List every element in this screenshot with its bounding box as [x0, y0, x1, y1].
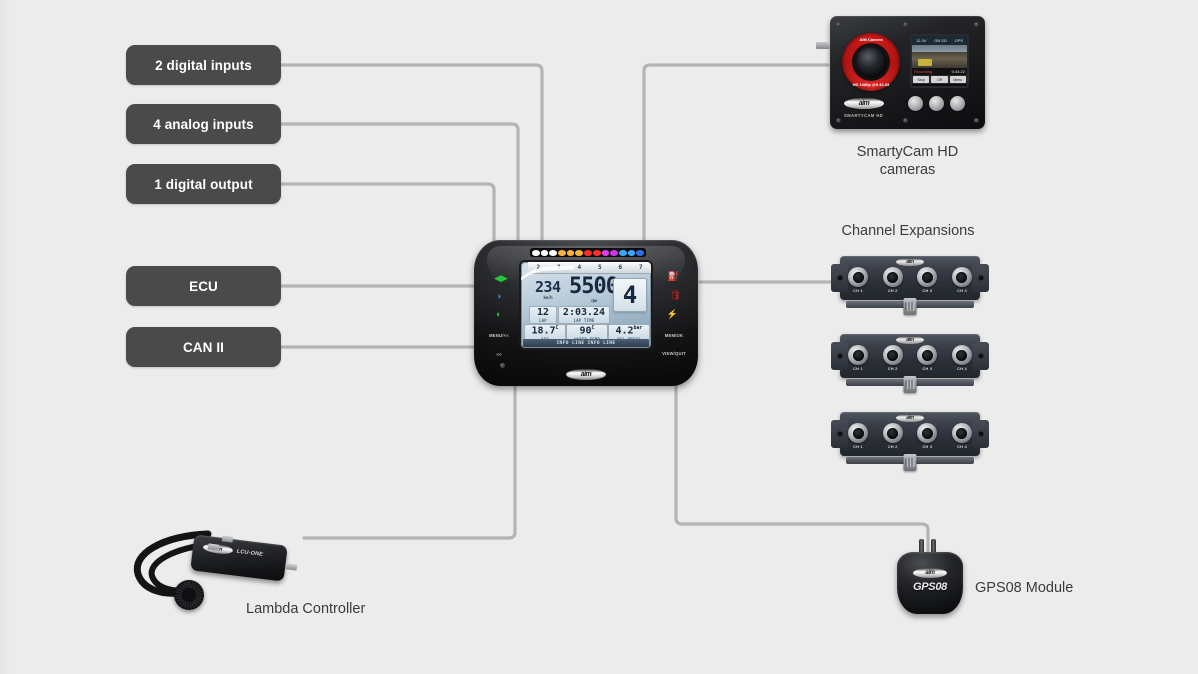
connector-icon [883, 345, 903, 365]
screw-icon [836, 22, 841, 27]
camera-cable-stub [816, 42, 830, 49]
lens-glass [855, 46, 887, 78]
laptime-label: LAP TIME [574, 318, 595, 323]
aim-logo: aim [896, 414, 924, 422]
laptime-value: 2:03.24 [563, 308, 605, 318]
channel-row: CH 1 CH 2 CH 3 CH 4 [846, 267, 974, 293]
lcd-time: 0:34:22 [952, 69, 965, 74]
shift-led [541, 250, 549, 256]
connector-icon [917, 267, 937, 287]
oil-press-value: 4.2 [615, 326, 633, 337]
input-box-analog-inputs[interactable]: 4 analog inputs [126, 104, 281, 144]
shift-led [593, 250, 601, 256]
connector-icon [952, 267, 972, 287]
lcd-status-bar: 12.3V GB SD GPS [912, 36, 967, 45]
channel-3[interactable]: CH 3 [915, 267, 939, 293]
connector-icon [883, 423, 903, 443]
speed-value: 234 [535, 278, 561, 296]
lap-label: LAP [539, 318, 547, 323]
water-temp-unit: C [592, 325, 595, 331]
channel-label: CH 1 [846, 288, 870, 293]
input-box-label: 2 digital inputs [155, 58, 252, 73]
lcd-storage: GB SD [934, 38, 946, 43]
power-indicator [500, 363, 505, 368]
channel-label: CH 2 [881, 444, 905, 449]
connector-icon [952, 345, 972, 365]
shift-led [610, 250, 618, 256]
gps-model-label: GPS08 [913, 581, 947, 593]
channel-4[interactable]: CH 4 [950, 345, 974, 371]
gps-caption: GPS08 Module [975, 579, 1115, 597]
channel-label: CH 2 [881, 288, 905, 293]
connector-icon [952, 423, 972, 443]
channel-1[interactable]: CH 1 [846, 423, 870, 449]
lcd-recording-label: Recording [914, 69, 932, 74]
lap-counter: 12 LAP [529, 306, 557, 324]
wire-digital-output [281, 184, 494, 262]
shift-led [628, 250, 636, 256]
speed-readout: 234 km/h [535, 278, 561, 301]
wire-smartycam [644, 65, 828, 246]
connector-icon [917, 345, 937, 365]
channel-4[interactable]: CH 4 [950, 267, 974, 293]
screw-icon [974, 118, 979, 123]
shift-led [584, 250, 592, 256]
lcd-preview-image [912, 45, 967, 68]
input-box-ecu[interactable]: ECU [126, 266, 281, 306]
lap-value: 12 [537, 308, 549, 318]
channel-1[interactable]: CH 1 [846, 345, 870, 371]
input-box-can2[interactable]: CAN II [126, 327, 281, 367]
menu-secondary-label[interactable]: << [486, 352, 512, 357]
channel-label: CH 3 [915, 366, 939, 371]
wire-lambda [304, 384, 515, 538]
aim-logo: aim [896, 258, 924, 266]
aim-logo: aim [896, 336, 924, 344]
smartycam-caption: SmartyCam HD cameras [830, 143, 985, 179]
channel-label: CH 1 [846, 366, 870, 371]
lcd-softkey-stop[interactable]: Stop [913, 76, 929, 83]
channel-row: CH 1 CH 2 CH 3 CH 4 [846, 423, 974, 449]
battery-warning-icon: ⚡ [667, 310, 678, 319]
shift-led [602, 250, 610, 256]
channel-4[interactable]: CH 4 [950, 423, 974, 449]
lcd-softkeys[interactable]: Stop Off Menu [912, 75, 967, 84]
lambda-sensor-connector [174, 580, 204, 610]
high-beam-icon: ◑ [496, 292, 501, 301]
turn-signal-icon: ◀▶ [494, 274, 508, 283]
channel-2[interactable]: CH 2 [881, 423, 905, 449]
mount-ear [972, 420, 989, 448]
shift-led [575, 250, 583, 256]
shift-led [636, 250, 644, 256]
channel-expansion-2[interactable]: aim CH 1 CH 2 CH 3 CH 4 [840, 334, 980, 386]
smartycam-device[interactable]: AIM Camera HD 1080p @5 42-53 12.3V GB SD… [830, 16, 985, 129]
channel-3[interactable]: CH 3 [915, 345, 939, 371]
channel-label: CH 2 [881, 366, 905, 371]
speed-unit: km/h [535, 296, 561, 301]
input-box-label: 4 analog inputs [153, 117, 254, 132]
channel-expansion-3[interactable]: aim CH 1 CH 2 CH 3 CH 4 [840, 412, 980, 464]
expansions-caption: Channel Expansions [808, 222, 1008, 240]
channel-label: CH 4 [950, 288, 974, 293]
aim-logo: aim [566, 369, 606, 380]
lambda-model-label: LCU-ONE [236, 549, 263, 558]
lcd-softkey-menu[interactable]: Menu [950, 76, 966, 83]
lap-time: 2:03.24 LAP TIME [558, 306, 610, 324]
info-line: INFO LINE INFO LINE [523, 339, 649, 347]
lambda-connector [286, 563, 298, 570]
wiring-diagram: 2 digital inputs 4 analog inputs 1 digit… [0, 0, 1198, 674]
channel-1[interactable]: CH 1 [846, 267, 870, 293]
view-quit-button-label[interactable]: VIEW/QUIT [660, 351, 688, 356]
channel-label: CH 1 [846, 444, 870, 449]
lambda-connector [208, 543, 220, 550]
lambda-connector [222, 535, 234, 542]
shift-led [532, 250, 540, 256]
camera-button[interactable] [908, 96, 923, 111]
connector-icon [848, 345, 868, 365]
rpm-value: 5500 [569, 274, 618, 299]
connector-icon [848, 423, 868, 443]
connector-icon [917, 423, 937, 443]
channel-label: CH 4 [950, 444, 974, 449]
input-box-label: 1 digital output [154, 177, 252, 192]
gear-indicator: 4 [613, 278, 647, 312]
camera-lcd-screen: 12.3V GB SD GPS Recording 0:34:22 Stop O… [910, 34, 969, 88]
channel-row: CH 1 CH 2 CH 3 CH 4 [846, 345, 974, 371]
channel-label: CH 3 [915, 444, 939, 449]
shift-led-bar [530, 248, 646, 257]
shift-led [549, 250, 557, 256]
fuel-icon: ⛽ [668, 272, 679, 281]
connector-icon [848, 267, 868, 287]
connector-icon [883, 267, 903, 287]
screw-icon [974, 22, 979, 27]
wire-digital-inputs [281, 65, 542, 246]
oil-pressure-icon: 🛢 [670, 291, 681, 300]
rpm-readout: 5500 rpm [569, 274, 618, 304]
gps-module-device[interactable]: aim GPS08 [897, 552, 963, 614]
camera-model-label: SMARTYCAM HD [844, 113, 883, 118]
menu-button-label[interactable]: MENU/<< [486, 333, 512, 338]
screw-icon [903, 118, 908, 123]
air-temp-unit: C [556, 325, 559, 331]
channel-label: CH 4 [950, 366, 974, 371]
camera-button[interactable] [929, 96, 944, 111]
dash-display-device[interactable]: 2 3 4 5 6 7 234 km/h 5500 rpm 4 12 LAP [474, 240, 698, 386]
camera-lens: AIM Camera HD 1080p @5 42-53 [842, 33, 900, 91]
input-box-label: CAN II [183, 340, 224, 355]
camera-button[interactable] [950, 96, 965, 111]
wire-gps [676, 384, 928, 556]
channel-label: CH 3 [915, 288, 939, 293]
screw-icon [903, 22, 908, 27]
oil-press-unit: bar [634, 325, 643, 331]
lcd-softkey-off[interactable]: Off [931, 76, 947, 83]
channel-2[interactable]: CH 2 [881, 345, 905, 371]
mount-ear [972, 342, 989, 370]
rpm-tick: 5 [590, 264, 611, 271]
aim-logo: aim [913, 568, 947, 578]
input-box-digital-output[interactable]: 1 digital output [126, 164, 281, 204]
shift-led [567, 250, 575, 256]
expansion-bus-plug [904, 376, 917, 393]
mem-ok-button-label[interactable]: MEM/OK [660, 333, 688, 338]
mount-ear [972, 264, 989, 292]
rpm-tick: 7 [631, 264, 652, 271]
channel-3[interactable]: CH 3 [915, 423, 939, 449]
air-temp-value: 18.7 [531, 326, 555, 337]
input-box-label: ECU [189, 279, 218, 294]
input-box-digital-inputs[interactable]: 2 digital inputs [126, 45, 281, 85]
shift-led [619, 250, 627, 256]
low-beam-icon: ◐ [496, 310, 501, 319]
channel-expansion-1[interactable]: aim CH 1 CH 2 CH 3 CH 4 [840, 256, 980, 308]
expansion-bus-plug [904, 454, 917, 471]
lcd-recording-row: Recording 0:34:22 [912, 68, 967, 75]
rpm-unit: rpm [569, 299, 618, 304]
lcd-gps-status: GPS [955, 38, 963, 43]
channel-2[interactable]: CH 2 [881, 267, 905, 293]
rpm-tick: 6 [610, 264, 631, 271]
aim-logo: aim [844, 98, 884, 109]
dash-screen: 2 3 4 5 6 7 234 km/h 5500 rpm 4 12 LAP [521, 262, 651, 348]
screw-icon [836, 118, 841, 123]
lcd-voltage: 12.3V [916, 38, 926, 43]
water-temp-value: 90 [579, 326, 591, 337]
shift-led [558, 250, 566, 256]
lambda-caption: Lambda Controller [246, 600, 426, 618]
expansion-bus-plug [904, 298, 917, 315]
